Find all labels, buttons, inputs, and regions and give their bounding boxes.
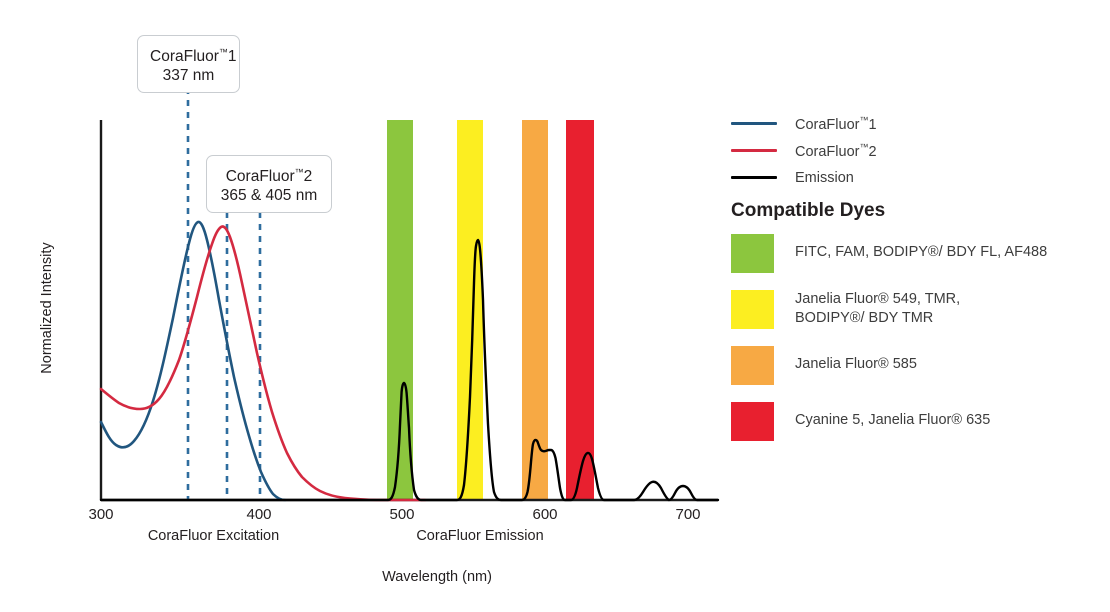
- callout-corafluor-1: CoraFluor™1 337 nm: [137, 35, 240, 93]
- callout-2-name: CoraFluor: [226, 168, 295, 185]
- callout-1-name: CoraFluor: [150, 48, 219, 65]
- dye-label-yellow-line2: BODIPY®/ BDY TMR: [795, 310, 933, 326]
- dye-label-red: Cyanine 5, Janelia Fluor® 635: [795, 402, 990, 430]
- dye-label-yellow: Janelia Fluor® 549, TMR, BODIPY®/ BDY TM…: [795, 290, 960, 328]
- dye-band-yellow: [457, 120, 483, 500]
- x-tick-600: 600: [525, 506, 565, 523]
- dye-swatch-orange: [731, 346, 774, 385]
- compatible-dyes-list: FITC, FAM, BODIPY®/ BDY FL, AF488 Janeli…: [731, 234, 1081, 458]
- compatible-dyes-title: Compatible Dyes: [731, 200, 885, 222]
- callout-corafluor-2: CoraFluor™2 365 & 405 nm: [206, 155, 332, 213]
- dye-swatch-yellow: [731, 290, 774, 329]
- dye-label-orange: Janelia Fluor® 585: [795, 346, 917, 374]
- fluorescence-spectra-figure: CoraFluor™1 337 nm CoraFluor™2 365 & 405…: [0, 0, 1110, 612]
- legend-swatch-corafluor-2: [731, 149, 777, 152]
- curve-corafluor-2: [101, 226, 425, 500]
- callout-1-value: 337 nm: [150, 66, 227, 85]
- legend-index-2: 2: [868, 143, 876, 159]
- callout-2-value: 365 & 405 nm: [219, 186, 319, 205]
- segment-label-emission: CoraFluor Emission: [400, 528, 560, 544]
- dye-band-orange: [522, 120, 548, 500]
- legend-label-emission: Emission: [795, 170, 854, 186]
- legend-item-corafluor-2: CoraFluor™2: [731, 137, 1071, 164]
- legend-swatch-corafluor-1: [731, 122, 777, 125]
- legend-item-emission: Emission: [731, 164, 1071, 191]
- dye-item-green: FITC, FAM, BODIPY®/ BDY FL, AF488: [731, 234, 1081, 273]
- x-tick-400: 400: [239, 506, 279, 523]
- dye-item-yellow: Janelia Fluor® 549, TMR, BODIPY®/ BDY TM…: [731, 290, 1081, 329]
- y-axis-title: Normalized Intensity: [39, 228, 55, 388]
- x-tick-500: 500: [382, 506, 422, 523]
- dye-item-orange: Janelia Fluor® 585: [731, 346, 1081, 385]
- x-axis-title: Wavelength (nm): [352, 569, 522, 585]
- legend-swatch-emission: [731, 176, 777, 179]
- series-legend: CoraFluor™1 CoraFluor™2 Emission: [731, 110, 1071, 191]
- legend-label-corafluor-2: CoraFluor™2: [795, 142, 877, 160]
- callout-2-tm: ™: [295, 167, 304, 177]
- segment-label-excitation: CoraFluor Excitation: [126, 528, 301, 544]
- dye-item-red: Cyanine 5, Janelia Fluor® 635: [731, 402, 1081, 441]
- legend-item-corafluor-1: CoraFluor™1: [731, 110, 1071, 137]
- dye-swatch-red: [731, 402, 774, 441]
- x-tick-700: 700: [668, 506, 708, 523]
- dye-band-red: [566, 120, 594, 500]
- dye-label-yellow-line1: Janelia Fluor® 549, TMR,: [795, 291, 960, 307]
- legend-label-corafluor-1: CoraFluor™1: [795, 115, 877, 133]
- callout-1-index: 1: [228, 48, 237, 65]
- dye-swatch-green: [731, 234, 774, 273]
- dye-label-green: FITC, FAM, BODIPY®/ BDY FL, AF488: [795, 234, 1047, 262]
- curve-corafluor-1: [101, 222, 285, 500]
- callout-2-index: 2: [304, 168, 313, 185]
- callout-1-tm: ™: [219, 47, 228, 57]
- x-tick-300: 300: [81, 506, 121, 523]
- dye-bands: [387, 120, 594, 500]
- legend-index-1: 1: [868, 116, 876, 132]
